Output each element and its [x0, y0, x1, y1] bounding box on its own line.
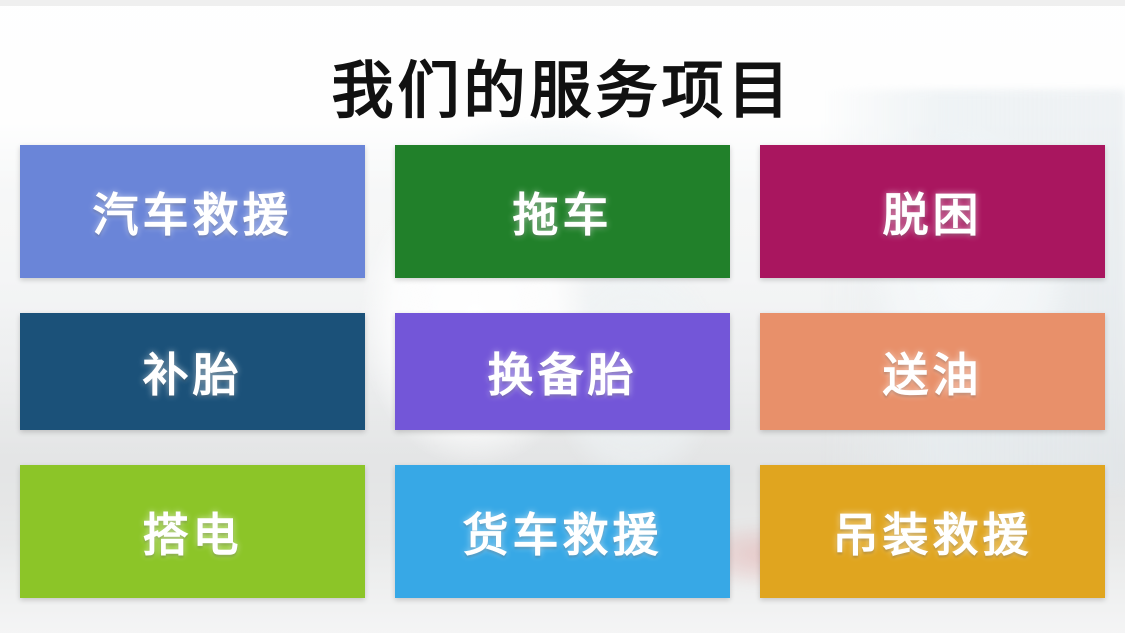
tile-label: 送油 — [883, 339, 983, 405]
service-poster: 我们的服务项目 汽车救援 拖车 脱困 补胎 换备胎 送油 搭电 货车救援 吊装救… — [0, 0, 1125, 633]
tile-label: 搭电 — [143, 499, 243, 565]
tile-towing[interactable]: 拖车 — [395, 145, 730, 278]
tile-label: 脱困 — [883, 179, 983, 245]
service-tile-grid: 汽车救援 拖车 脱困 补胎 换备胎 送油 搭电 货车救援 吊装救援 — [20, 145, 1105, 598]
tile-extrication[interactable]: 脱困 — [760, 145, 1105, 278]
tile-label: 补胎 — [143, 339, 243, 405]
page-title-wrapper: 我们的服务项目 — [0, 16, 1125, 164]
page-title: 我们的服务项目 — [331, 58, 793, 123]
tile-label: 拖车 — [513, 179, 613, 245]
tile-crane-rescue[interactable]: 吊装救援 — [760, 465, 1105, 598]
tile-label: 吊装救援 — [833, 499, 1033, 565]
tile-fuel-delivery[interactable]: 送油 — [760, 313, 1105, 430]
tile-spare-tire-change[interactable]: 换备胎 — [395, 313, 730, 430]
tile-label: 汽车救援 — [93, 179, 293, 245]
tile-label: 换备胎 — [488, 339, 638, 405]
top-strip — [0, 0, 1125, 6]
tile-car-rescue[interactable]: 汽车救援 — [20, 145, 365, 278]
tile-truck-rescue[interactable]: 货车救援 — [395, 465, 730, 598]
tile-tire-repair[interactable]: 补胎 — [20, 313, 365, 430]
tile-label: 货车救援 — [463, 499, 663, 565]
tile-jump-start[interactable]: 搭电 — [20, 465, 365, 598]
